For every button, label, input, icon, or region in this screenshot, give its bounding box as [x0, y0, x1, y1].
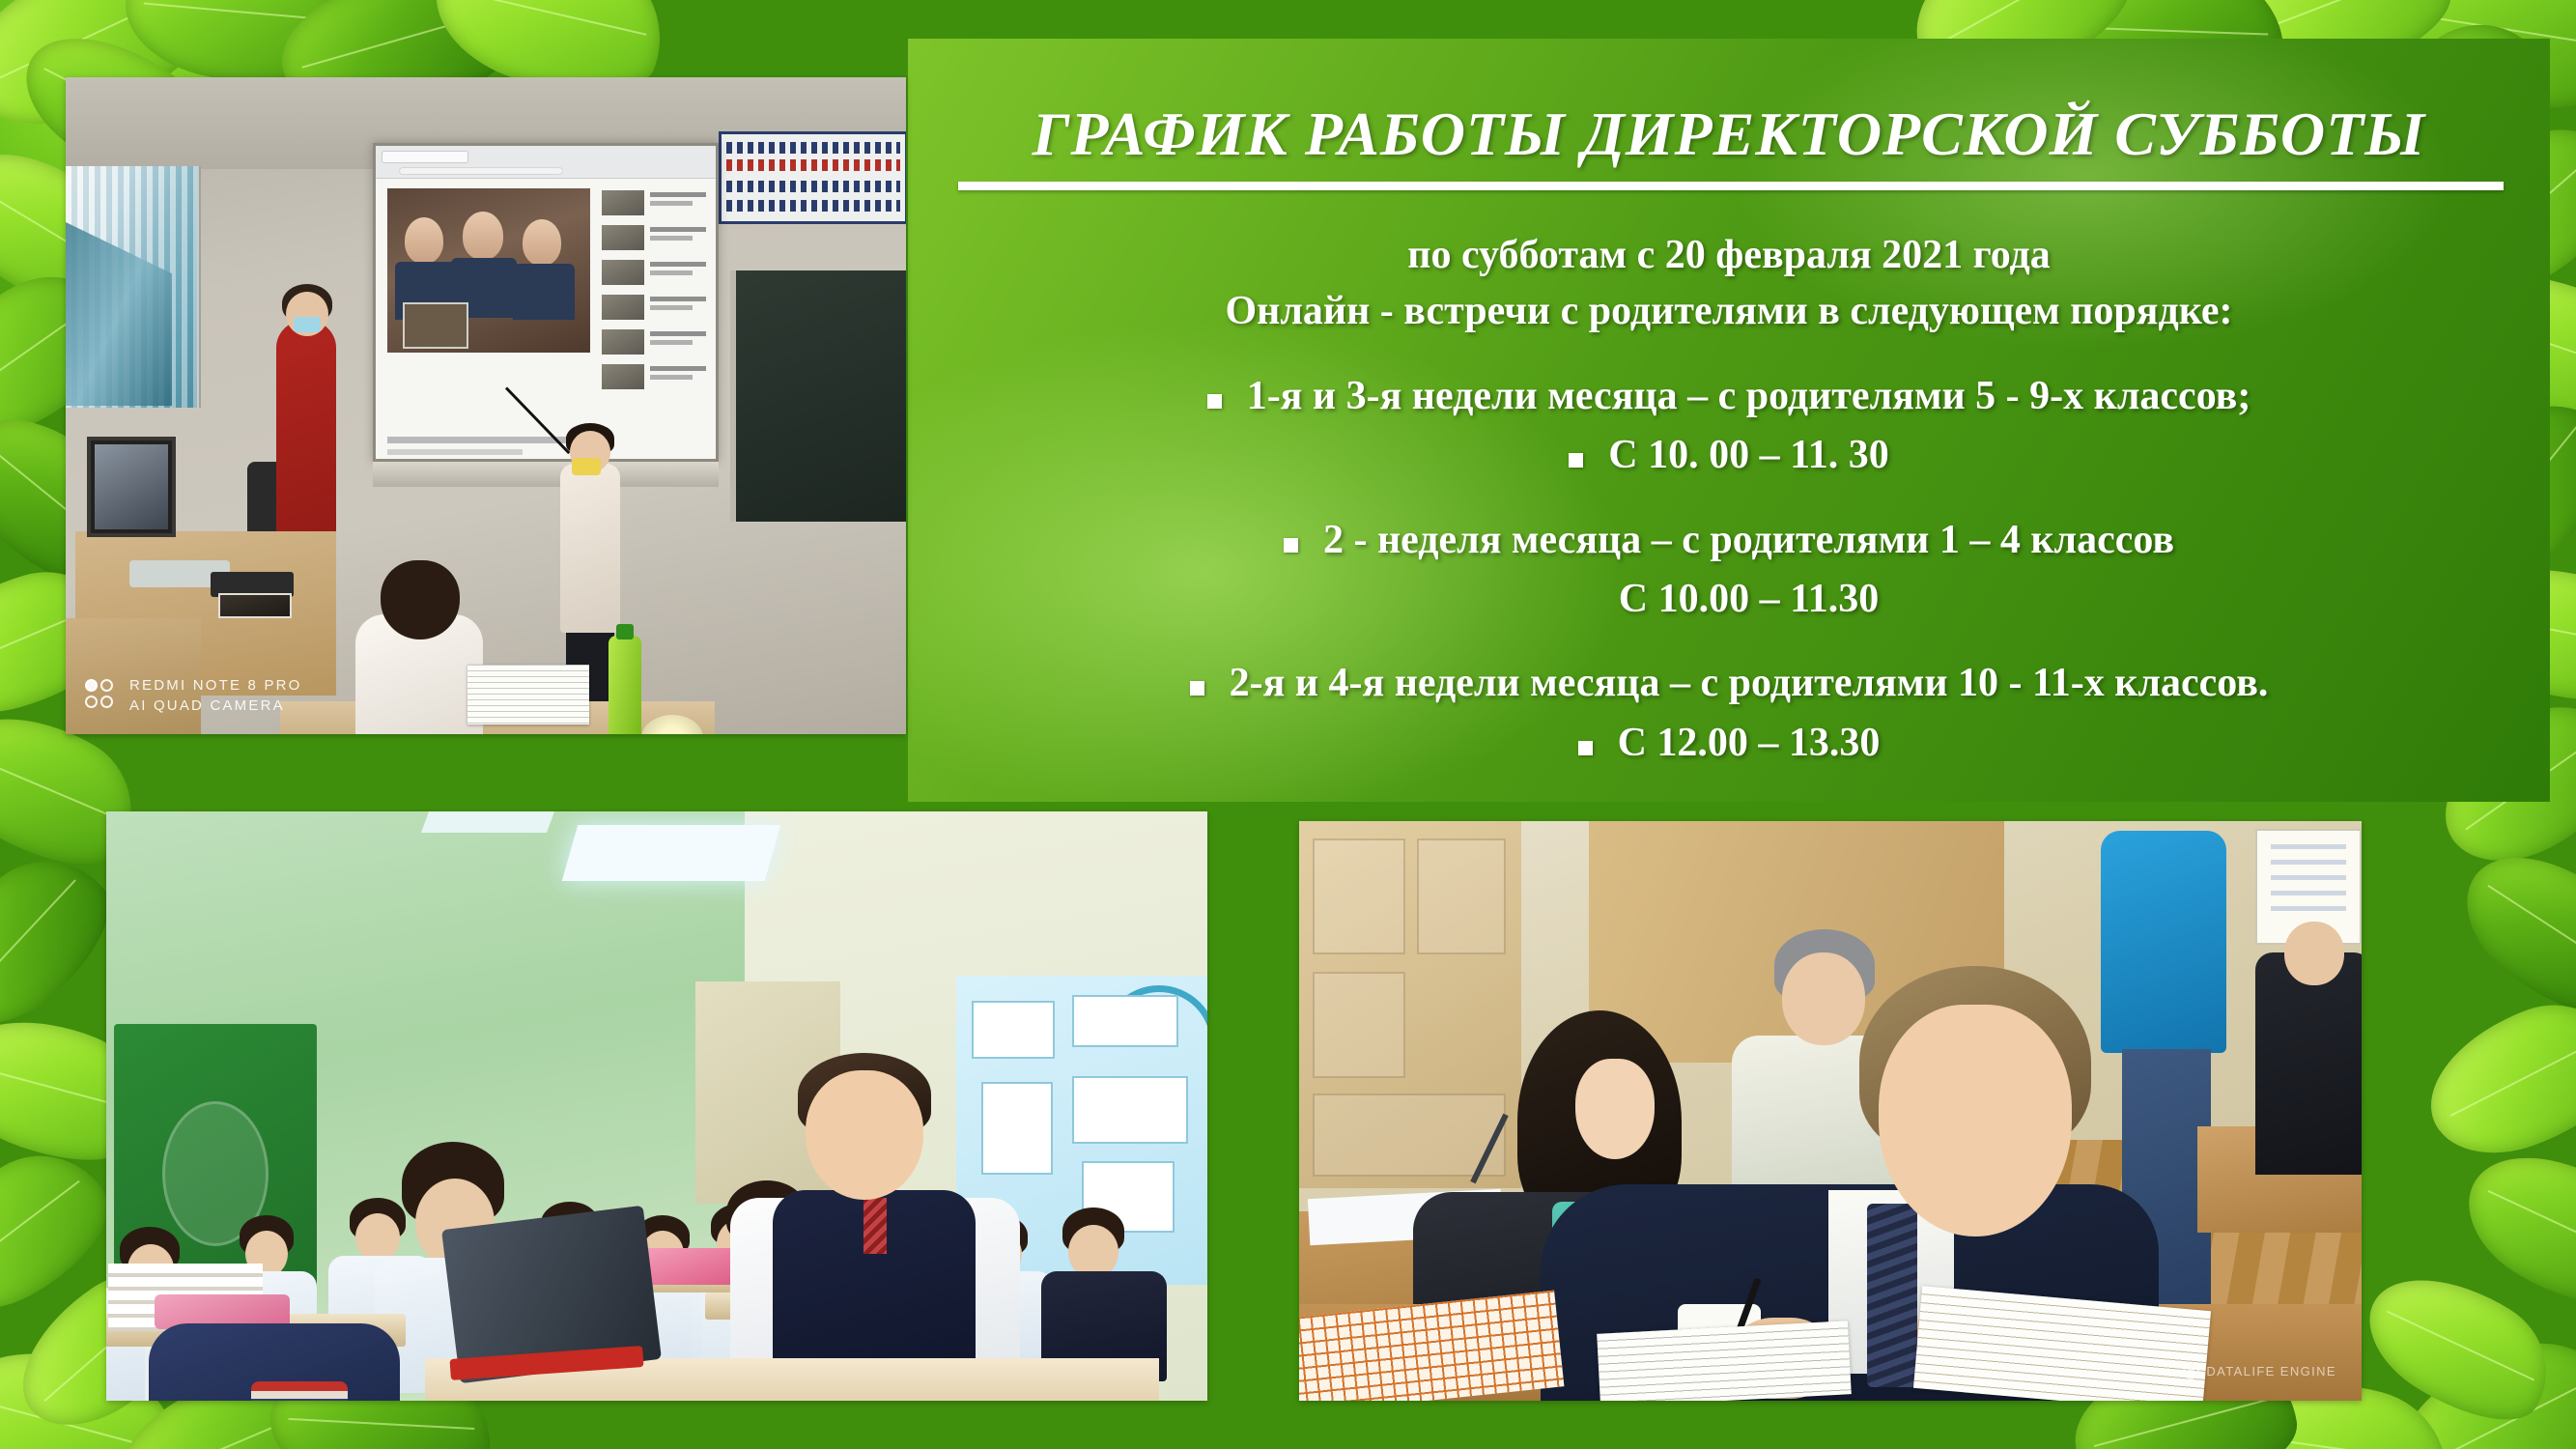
examinee-suit — [2255, 952, 2362, 1175]
square-bullet-icon — [1190, 681, 1204, 696]
recommendation-item — [602, 329, 710, 358]
poster-line — [726, 142, 900, 154]
speaker-face — [523, 219, 561, 266]
face-mask — [572, 458, 601, 475]
video-recommendations — [602, 190, 710, 409]
water-bottle — [609, 636, 641, 734]
poster-line — [726, 200, 900, 212]
ceiling-light — [562, 825, 781, 881]
schedule-row-text: С 10.00 – 11.30 — [1619, 570, 1880, 629]
book — [218, 593, 292, 618]
alphabet-poster — [719, 131, 906, 224]
speaker-face — [463, 212, 503, 260]
examinee-head — [2284, 922, 2344, 985]
seated-pupil-head — [381, 560, 460, 639]
schedule-row: С 12.00 – 13.30 — [908, 714, 2550, 773]
recommendation-item — [602, 364, 710, 393]
schedule-row-text: С 10. 00 – 11. 30 — [1608, 426, 1889, 485]
poster-root: ГРАФИК РАБОТЫ ДИРЕКТОРСКОЙ СУББОТЫ по су… — [0, 0, 2576, 1449]
cupboard-shelf — [1313, 972, 1405, 1078]
cupboard-door — [1313, 838, 1405, 954]
square-bullet-icon — [1207, 394, 1222, 409]
watermark-line-2: AI QUAD CAMERA — [129, 696, 302, 717]
schedule-row: 1-я и 3-я недели месяца – с родителями 5… — [908, 367, 2550, 426]
recommendation-item — [602, 225, 710, 254]
schedule-list: 1-я и 3-я недели месяца – с родителями 5… — [908, 367, 2550, 773]
datalife-watermark: DATALIFE ENGINE — [2183, 1363, 2336, 1379]
list-spacer — [908, 486, 2550, 511]
ceiling-light — [421, 811, 554, 833]
schedule-row: С 10.00 – 11.30 — [908, 570, 2550, 629]
recommendation-item — [602, 190, 710, 219]
backpack-stripes — [251, 1381, 348, 1401]
square-bullet-icon — [1569, 453, 1583, 468]
chalkboard — [730, 270, 906, 522]
recommendation-item — [602, 295, 710, 324]
schedule-row-text: 1-я и 3-я недели месяца – с родителями 5… — [1247, 367, 2251, 426]
cupboard-shelf — [1313, 1094, 1506, 1177]
schedule-row: 2-я и 4-я недели месяца – с родителями 1… — [908, 654, 2550, 713]
watermark-line-1: REDMI NOTE 8 PRO — [129, 675, 302, 696]
pupil-shirt — [560, 464, 620, 633]
invigilator-head — [1782, 952, 1865, 1045]
observer-blue-shirt — [2101, 831, 2226, 1053]
screen-ledge — [373, 462, 719, 487]
browser-tab — [382, 151, 468, 163]
schedule-row: С 10. 00 – 11. 30 — [908, 426, 2550, 485]
cupboard-door — [1417, 838, 1506, 954]
notebook — [467, 665, 589, 724]
video-meta-text — [387, 449, 523, 455]
hero-student-head — [1879, 1005, 2072, 1236]
title-underline — [958, 182, 2504, 190]
datalife-logo-icon — [2183, 1363, 2199, 1379]
speaker-face — [405, 217, 443, 264]
quad-camera-icon — [85, 679, 118, 712]
hero-pupil-tie — [863, 1198, 887, 1254]
poster-line — [726, 181, 900, 192]
bottle-cap — [616, 624, 634, 639]
page-title: ГРАФИК РАБОТЫ ДИРЕКТОРСКОЙ СУББОТЫ — [908, 99, 2550, 170]
video-player — [387, 188, 590, 353]
face-mask — [294, 317, 321, 332]
hero-pupil-head — [806, 1070, 923, 1200]
board-card — [981, 1082, 1053, 1175]
camera-watermark: REDMI NOTE 8 PRO AI QUAD CAMERA — [85, 675, 302, 718]
photo-classroom-projector: REDMI NOTE 8 PRO AI QUAD CAMERA — [66, 77, 906, 734]
square-bullet-icon — [1578, 741, 1593, 755]
photo-exam-room: DATALIFE ENGINE — [1299, 821, 2362, 1401]
subtitle-format: Онлайн - встречи с родителями в следующе… — [908, 288, 2550, 334]
video-pip — [403, 302, 468, 349]
schedule-row-text: С 12.00 – 13.30 — [1618, 714, 1881, 773]
schedule-row-text: 2 - неделя месяца – с родителями 1 – 4 к… — [1323, 511, 2174, 570]
board-card — [972, 1001, 1055, 1059]
square-bullet-icon — [1284, 538, 1298, 553]
browser-url-bar — [399, 167, 563, 175]
pupil-background-right — [1041, 1207, 1176, 1381]
watermark-text: REDMI NOTE 8 PRO AI QUAD CAMERA — [129, 675, 302, 718]
hero-student-tie — [1867, 1204, 1917, 1387]
datalife-watermark-text: DATALIFE ENGINE — [2206, 1364, 2336, 1378]
answer-sheet — [1597, 1321, 1852, 1401]
speaker-suit — [513, 264, 575, 320]
recommendation-item — [602, 260, 710, 289]
schedule-text-panel: ГРАФИК РАБОТЫ ДИРЕКТОРСКОЙ СУББОТЫ по су… — [908, 39, 2550, 802]
schedule-row-text: 2-я и 4-я недели месяца – с родителями 1… — [1230, 654, 2269, 713]
board-card — [1072, 995, 1178, 1047]
photo-primary-classroom — [106, 811, 1207, 1401]
browser-toolbar — [376, 146, 716, 179]
projection-screen — [373, 143, 719, 462]
subtitle-dates: по субботам с 20 февраля 2021 года — [908, 232, 2550, 278]
girl-face — [1575, 1059, 1655, 1159]
monitor — [87, 437, 176, 537]
poster-line — [726, 159, 900, 171]
schedule-row: 2 - неделя месяца – с родителями 1 – 4 к… — [908, 511, 2550, 570]
board-card — [1072, 1076, 1188, 1144]
list-spacer — [908, 629, 2550, 654]
